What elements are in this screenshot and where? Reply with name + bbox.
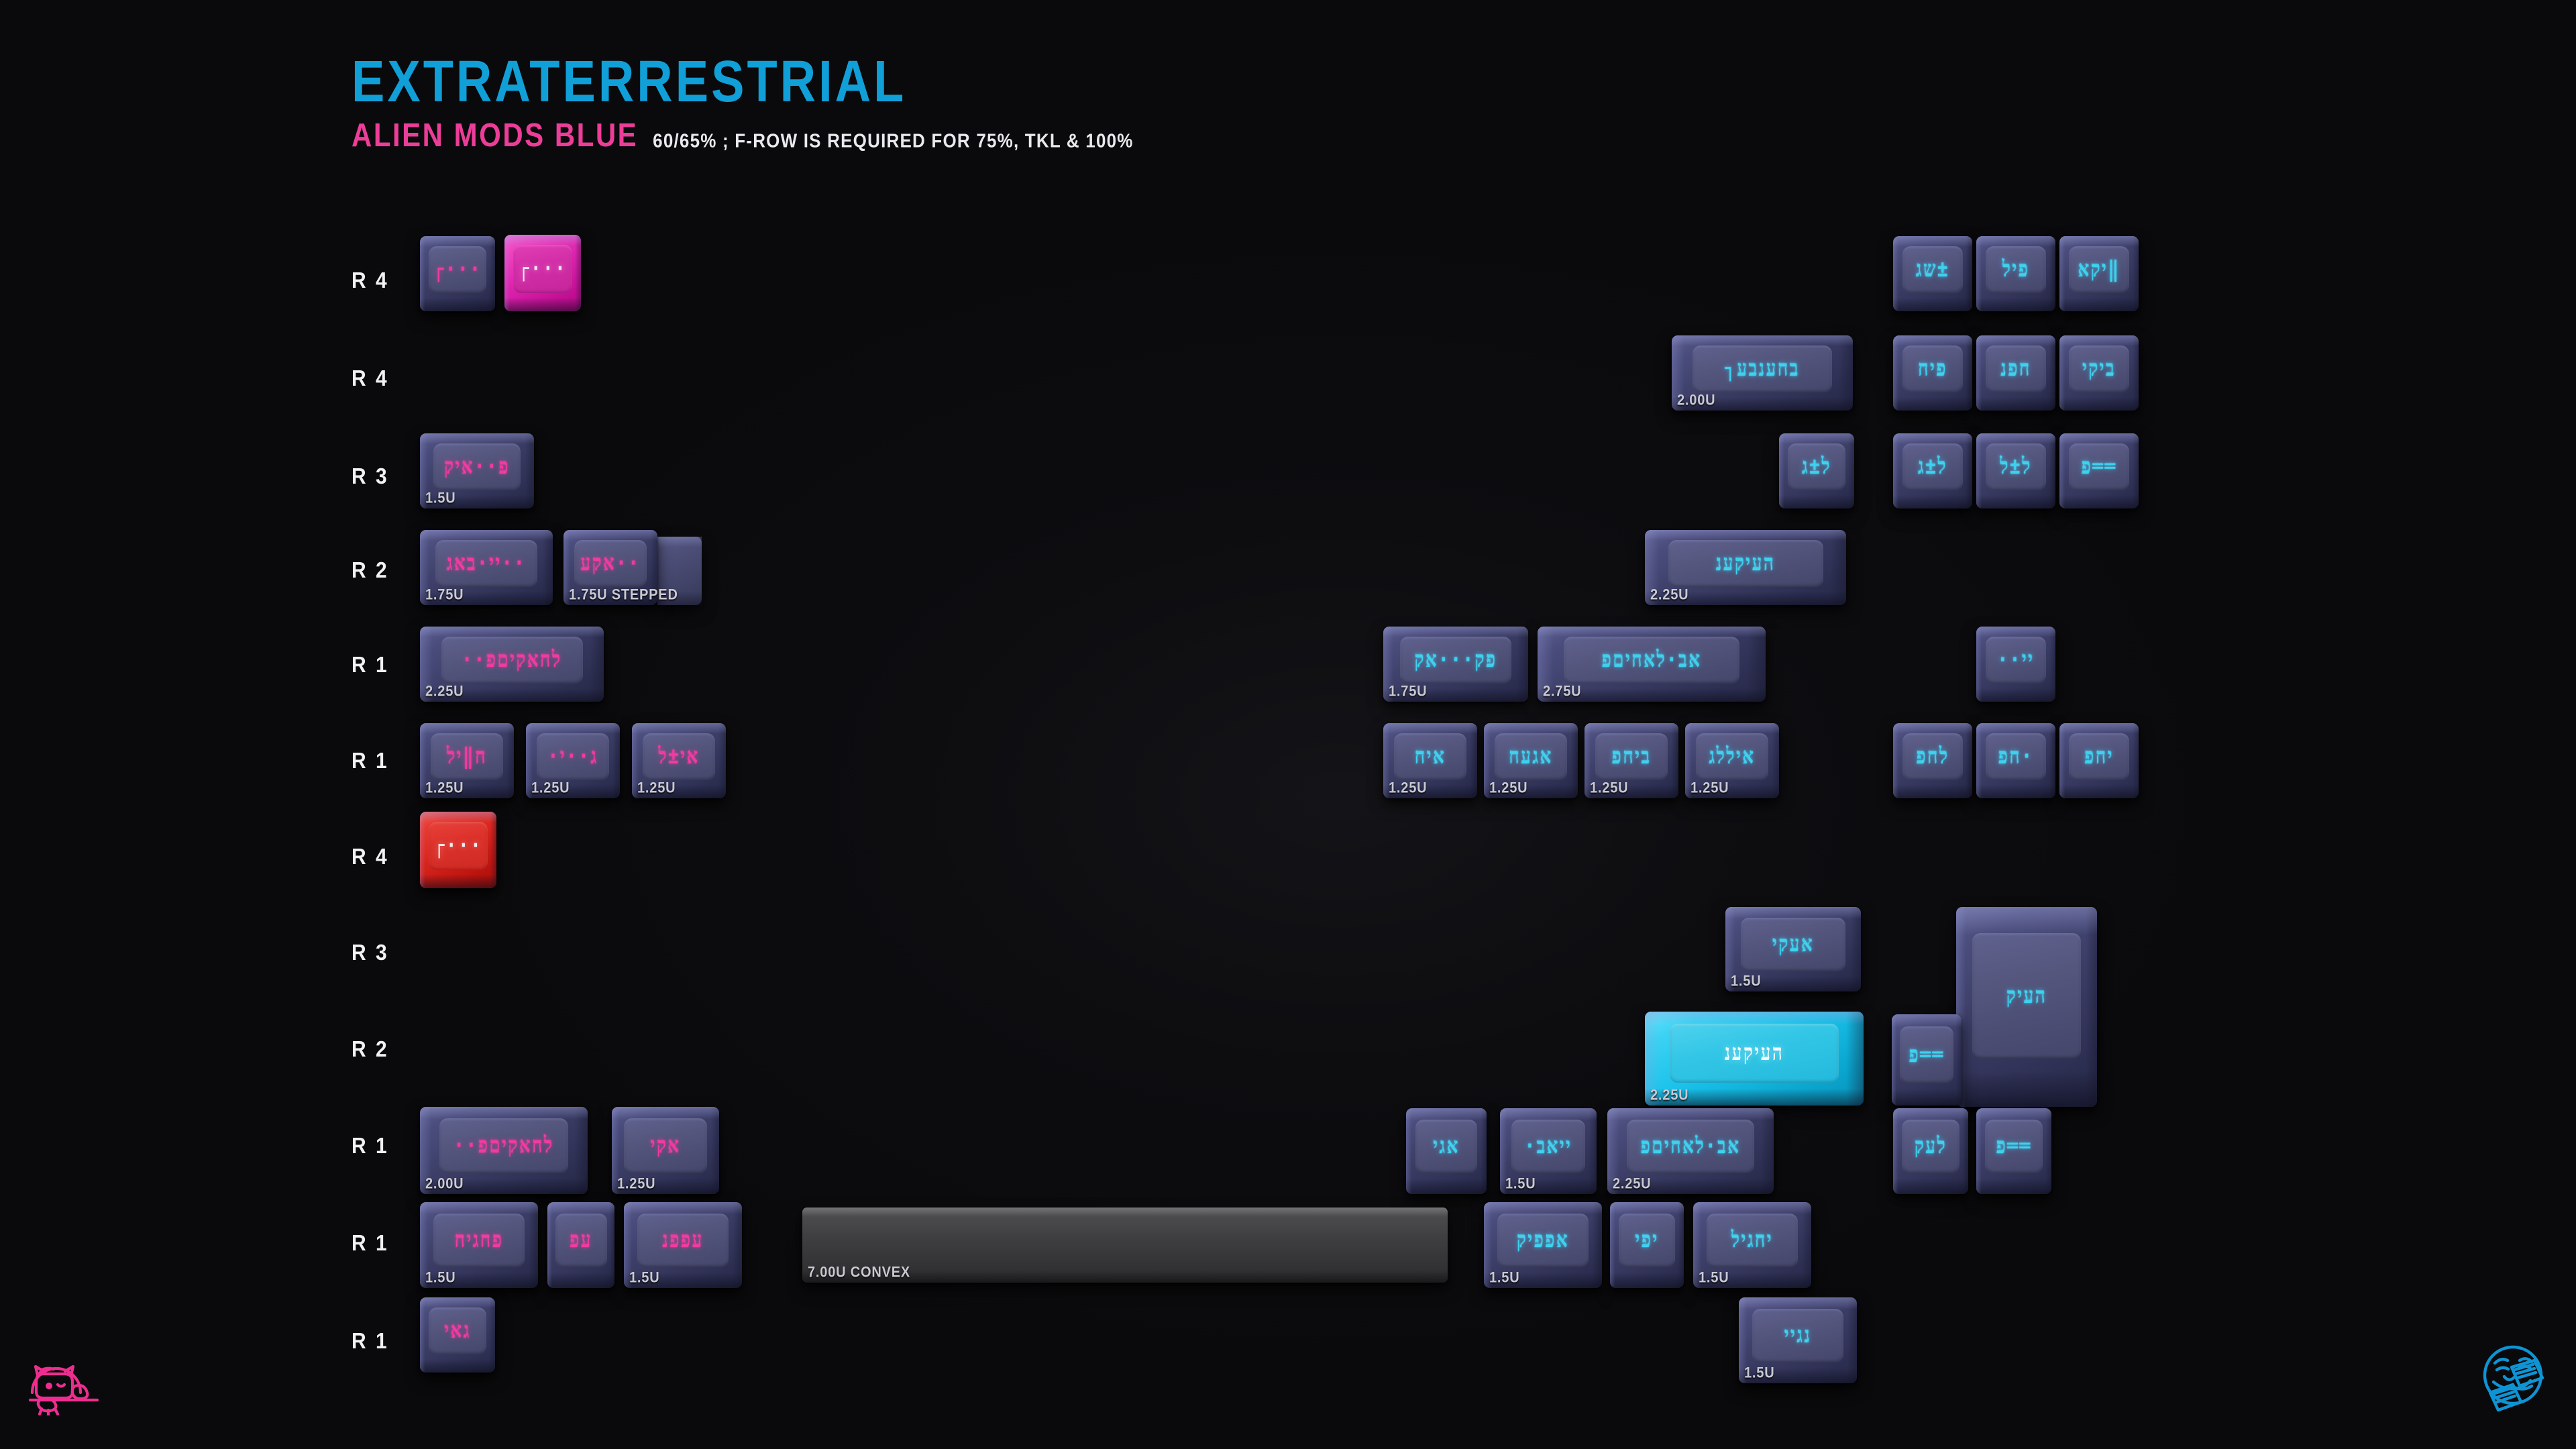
alien-glyph-legend: אי±ל: [658, 745, 699, 767]
row-label: R 1: [352, 749, 389, 773]
alien-glyph-legend: ┐בחענבע: [1725, 358, 1800, 380]
alien-glyph-legend: איללג: [1709, 745, 1756, 767]
keycap-size-label: 1.25U: [1590, 780, 1628, 798]
keycap-right-r4-2[interactable]: פיל: [1976, 236, 2055, 311]
keycap-legend-plate: אקע··: [574, 540, 647, 588]
keycap-legend-plate: אקי: [624, 1118, 706, 1173]
alien-glyph-legend: ··יי: [1998, 649, 2035, 671]
keycap-size-label: 1.75U: [1389, 684, 1427, 701]
keycap-size-label: 1.75U STEPPED: [569, 587, 678, 604]
alien-glyph-legend: ח‖יל: [447, 745, 487, 767]
keycap-legend-plate: פ══: [1985, 1120, 2043, 1174]
alien-glyph-legend: אעקי: [1772, 933, 1814, 955]
keycap-legend-plate: אעקי: [1741, 918, 1845, 971]
row-label: R 4: [352, 845, 389, 869]
keycap-right-r4-3[interactable]: יקא‖: [2059, 236, 2139, 311]
alien-glyph-legend: אגעח: [1509, 745, 1552, 767]
subtitle-row: ALIEN MODS BLUE 60/65% ; F-ROW IS REQUIR…: [352, 123, 1134, 152]
alien-glyph-legend: גאי: [444, 1320, 471, 1342]
keycap-esc-magenta[interactable]: ┌···: [504, 235, 581, 311]
keycap-size-label: 1.75U: [425, 587, 464, 604]
keycap-legend-plate: גאי: [429, 1307, 486, 1355]
keycap-right-r1b-5[interactable]: לחפ: [1893, 723, 1972, 798]
alien-glyph-legend: אב·לאחיםפ: [1641, 1135, 1741, 1157]
alien-glyph-legend: אקי: [651, 1134, 681, 1157]
keycap-legend-plate: העיקענ: [1670, 1024, 1838, 1083]
keycap-legend-plate: ┌···: [429, 822, 488, 870]
keycap-size-label: 2.75U: [1543, 684, 1581, 701]
row-label: R 2: [352, 558, 389, 583]
alien-glyph-legend: ביחפ: [1612, 745, 1652, 767]
keycap-right-r1b-6[interactable]: חפ·: [1976, 723, 2055, 798]
row-label: R 2: [352, 1037, 389, 1062]
keycap-right-r3-1[interactable]: ל±ג: [1779, 433, 1854, 508]
keycap-r1d-right-2[interactable]: יפי: [1610, 1202, 1684, 1288]
row-label: R 1: [352, 1329, 389, 1354]
keycap-size-label: 2.25U: [1613, 1176, 1651, 1193]
keycap-right-r4-6[interactable]: ביקי: [2059, 335, 2139, 411]
alien-glyph-legend: עפ: [570, 1229, 592, 1251]
keycap-legend-plate: איללג: [1696, 733, 1768, 781]
alien-glyph-legend: ביקי: [2082, 358, 2116, 380]
alien-glyph-legend: יקא‖: [2078, 258, 2120, 280]
alien-glyph-legend: חפ·: [1998, 745, 2034, 767]
keycap-legend-plate: ┐בחענבע: [1693, 345, 1832, 393]
row-label: R 4: [352, 268, 389, 293]
keycap-legend-plate: ביחפ: [1595, 733, 1668, 781]
alien-glyph-legend: ל±ג: [1802, 455, 1831, 478]
keycap-legend-plate: ┌···: [513, 245, 572, 293]
alien-glyph-legend: ┌···: [434, 835, 483, 857]
keycap-right-r3-4[interactable]: פ══: [2059, 433, 2139, 508]
keycap-r1c-5[interactable]: פ══: [1976, 1108, 2051, 1194]
keycap-legend-plate: העיקענ: [1668, 540, 1823, 588]
keycap-size-label: 2.00U: [1677, 392, 1715, 410]
keycap-legend-plate: יקא‖: [2069, 246, 2130, 294]
keycap-size-label: 1.5U: [1731, 973, 1761, 991]
keycap-legend-plate: אגי: [1415, 1120, 1477, 1174]
alien-glyph-legend: לעק: [1915, 1135, 1947, 1157]
alien-glyph-legend: יפי: [1635, 1229, 1658, 1251]
alien-glyph-legend: פ══: [1996, 1135, 2032, 1157]
keycap-legend-plate: פק···אק: [1400, 637, 1511, 684]
keycap-esc-red[interactable]: ┌···: [420, 812, 496, 888]
keycap-r1e-1[interactable]: גאי: [420, 1297, 495, 1373]
keycap-legend-plate: ┌···: [429, 246, 486, 294]
alien-glyph-legend: ··לחאקיםפ: [453, 1134, 553, 1157]
page-title: EXTRATERRESTRIAL: [352, 52, 1134, 111]
keycap-legend-plate: ל±ג: [1902, 443, 1964, 491]
keycap-size-label: 1.5U: [629, 1270, 659, 1287]
alien-glyph-legend: ··לחאקיםפ: [462, 649, 561, 671]
keycap-render-canvas: EXTRATERRESTRIAL ALIEN MODS BLUE 60/65% …: [0, 0, 2576, 1449]
row-label: R 1: [352, 1231, 389, 1256]
alien-glyph-legend: יחגיל: [1731, 1229, 1773, 1251]
keycap-legend-plate: ·ג··י: [537, 733, 609, 781]
keycap-size-label: 1.5U: [1505, 1176, 1536, 1193]
keycap-right-r1a-3[interactable]: ··יי: [1976, 627, 2055, 702]
keycap-size-label: 2.25U: [1650, 1087, 1688, 1105]
alien-glyph-legend: ·ייאב: [1524, 1135, 1572, 1157]
keycap-legend-plate: לחפ: [1902, 733, 1964, 781]
alien-glyph-legend: לחפ: [1916, 745, 1949, 767]
keycap-size-label: 1.25U: [425, 780, 464, 798]
alien-glyph-legend: יחפ: [2084, 745, 2114, 767]
keycap-legend-plate: ··לחאקיםפ: [441, 637, 583, 684]
keycap-legend-plate: ··יי: [1986, 637, 2047, 684]
alien-glyph-legend: אב·לאחיםפ: [1602, 649, 1702, 671]
keycap-r1d-small[interactable]: עפ: [547, 1202, 614, 1288]
keycap-size-label: 2.00U: [425, 1176, 464, 1193]
keycap-legend-plate: ··לחאקיםפ: [439, 1118, 569, 1173]
alien-glyph-legend: עפפנ: [662, 1229, 703, 1251]
row-label: R 4: [352, 366, 389, 391]
keycap-legend-plate: שג±: [1902, 246, 1964, 294]
bongo-cat-logo: [19, 1336, 107, 1419]
keycap-legend-plate: ל±ג: [1788, 443, 1845, 491]
keycap-right-r3-2[interactable]: ל±ג: [1893, 433, 1972, 508]
alien-glyph-legend: פיח: [1918, 358, 1947, 380]
alien-glyph-legend: העיקענ: [1716, 552, 1776, 574]
keycap-legend-plate: איח: [1394, 733, 1466, 781]
keycap-legend-plate: חפנ: [1986, 345, 2047, 393]
keycap-legend-plate: פיל: [1986, 246, 2047, 294]
alien-glyph-legend: נגיי: [1784, 1324, 1812, 1346]
keycap-legend-plate: אי±ל: [643, 733, 715, 781]
keycap-size-label: 1.5U: [425, 490, 455, 508]
keycap-right-r4-5[interactable]: חפנ: [1976, 335, 2055, 411]
keycap-size-label: 1.25U: [531, 780, 570, 798]
keycap-size-label: 1.25U: [1489, 780, 1527, 798]
compatibility-note: 60/65% ; F-ROW IS REQUIRED FOR 75%, TKL …: [653, 131, 1133, 150]
alien-glyph-legend: פ══: [1909, 1044, 1945, 1066]
keycap-size-label: 1.25U: [617, 1176, 655, 1193]
keycap-r1c-4[interactable]: לעק: [1893, 1108, 1968, 1194]
alien-glyph-legend: חפנ: [2000, 358, 2031, 380]
alien-glyph-legend: העיקענ: [1725, 1042, 1784, 1065]
alien-glyph-legend: אפפיק: [1517, 1229, 1569, 1251]
alien-glyph-legend: ·ג··י: [548, 745, 598, 767]
keycap-legend-plate: יי·באג··: [435, 540, 537, 588]
alien-glyph-legend: ┌···: [433, 258, 482, 280]
alien-glyph-legend: פ··איק: [444, 455, 510, 478]
keycap-legend-plate: יחגיל: [1707, 1214, 1798, 1268]
keycap-size-label: 7.00U CONVEX: [808, 1265, 910, 1282]
alien-glyph-legend: פחגיח: [455, 1229, 504, 1251]
keycap-legend-plate: לעק: [1902, 1120, 1960, 1174]
keycap-legend-plate: ·ייאב: [1511, 1120, 1586, 1174]
alien-glyph-legend: ל±ג: [1918, 455, 1947, 478]
keycap-legend-plate: פיח: [1902, 345, 1964, 393]
alien-glyph-legend: פק···אק: [1414, 649, 1497, 671]
keycap-legend-plate: אגעח: [1495, 733, 1567, 781]
row-label: R 1: [352, 653, 389, 678]
keycap-right-r4-1[interactable]: שג±: [1893, 236, 1972, 311]
alien-glyph-legend: העיק: [2006, 985, 2047, 1007]
keycap-r1c-1[interactable]: אגי: [1406, 1108, 1487, 1194]
keycap-r2-right-1[interactable]: פ══: [1892, 1014, 1962, 1106]
keycap-size-label: 2.25U: [1650, 587, 1688, 604]
keycap-size-label: 1.5U: [425, 1270, 455, 1287]
keycap-size-label: 2.25U: [425, 684, 464, 701]
keycap-legend-plate: עפפנ: [637, 1214, 729, 1268]
keycap-iso-enter[interactable]: העיק: [1956, 907, 2097, 1107]
keycap-size-label: 1.5U: [1699, 1270, 1729, 1287]
keyboard-emoji-logo: [2473, 1338, 2553, 1419]
keycap-legend-plate: עפ: [555, 1214, 607, 1268]
keycap-size-label: 1.25U: [1389, 780, 1427, 798]
keycap-legend-plate: נגיי: [1752, 1309, 1843, 1363]
keycap-size-label: 1.25U: [637, 780, 676, 798]
keycap-size-label: 1.5U: [1489, 1270, 1519, 1287]
keycap-esc-blue[interactable]: ┌···: [420, 236, 495, 311]
row-label: R 3: [352, 464, 389, 489]
keycap-legend-plate: ח‖יל: [431, 733, 503, 781]
keycap-legend-plate: ל±ל: [1986, 443, 2047, 491]
alien-glyph-legend: איח: [1415, 745, 1446, 767]
keycap-legend-plate: פחגיח: [433, 1214, 525, 1268]
keycap-legend-plate: חפ·: [1986, 733, 2047, 781]
row-label: R 1: [352, 1134, 389, 1159]
alien-glyph-legend: יי·באג··: [447, 552, 526, 574]
keycap-legend-plate: פ··איק: [433, 443, 521, 491]
keycap-legend-plate: ביקי: [2069, 345, 2130, 393]
header: EXTRATERRESTRIAL ALIEN MODS BLUE 60/65% …: [352, 52, 1134, 152]
alien-glyph-legend: פ══: [2082, 455, 2117, 478]
alien-glyph-legend: שג±: [1916, 258, 1949, 280]
keycap-legend-plate: אב·לאחיםפ: [1627, 1120, 1755, 1174]
alien-glyph-legend: אקע··: [580, 552, 640, 574]
keycap-size-label: 1.25U: [1690, 780, 1729, 798]
keycap-legend-plate: אב·לאחיםפ: [1564, 637, 1739, 684]
alien-glyph-legend: פיל: [2002, 258, 2030, 280]
keycap-size-label: 1.5U: [1744, 1365, 1774, 1383]
alien-glyph-legend: אגי: [1433, 1135, 1460, 1157]
keycap-legend-plate: יחפ: [2069, 733, 2130, 781]
keycap-right-r3-3[interactable]: ל±ל: [1976, 433, 2055, 508]
keycap-legend-plate: יפי: [1619, 1214, 1676, 1268]
alien-glyph-legend: ל±ל: [2000, 455, 2031, 478]
kit-name: ALIEN MODS BLUE: [352, 119, 638, 152]
keycap-legend-plate: פ══: [1900, 1026, 1953, 1084]
keycap-legend-plate: אפפיק: [1497, 1214, 1589, 1268]
keycap-legend-plate: פ══: [2069, 443, 2130, 491]
alien-glyph-legend: ┌···: [519, 258, 568, 280]
row-label: R 3: [352, 941, 389, 965]
keycap-right-r4-4[interactable]: פיח: [1893, 335, 1972, 411]
keycap-right-r1b-7[interactable]: יחפ: [2059, 723, 2139, 798]
keycap-legend-plate: העיק: [1972, 933, 2081, 1059]
